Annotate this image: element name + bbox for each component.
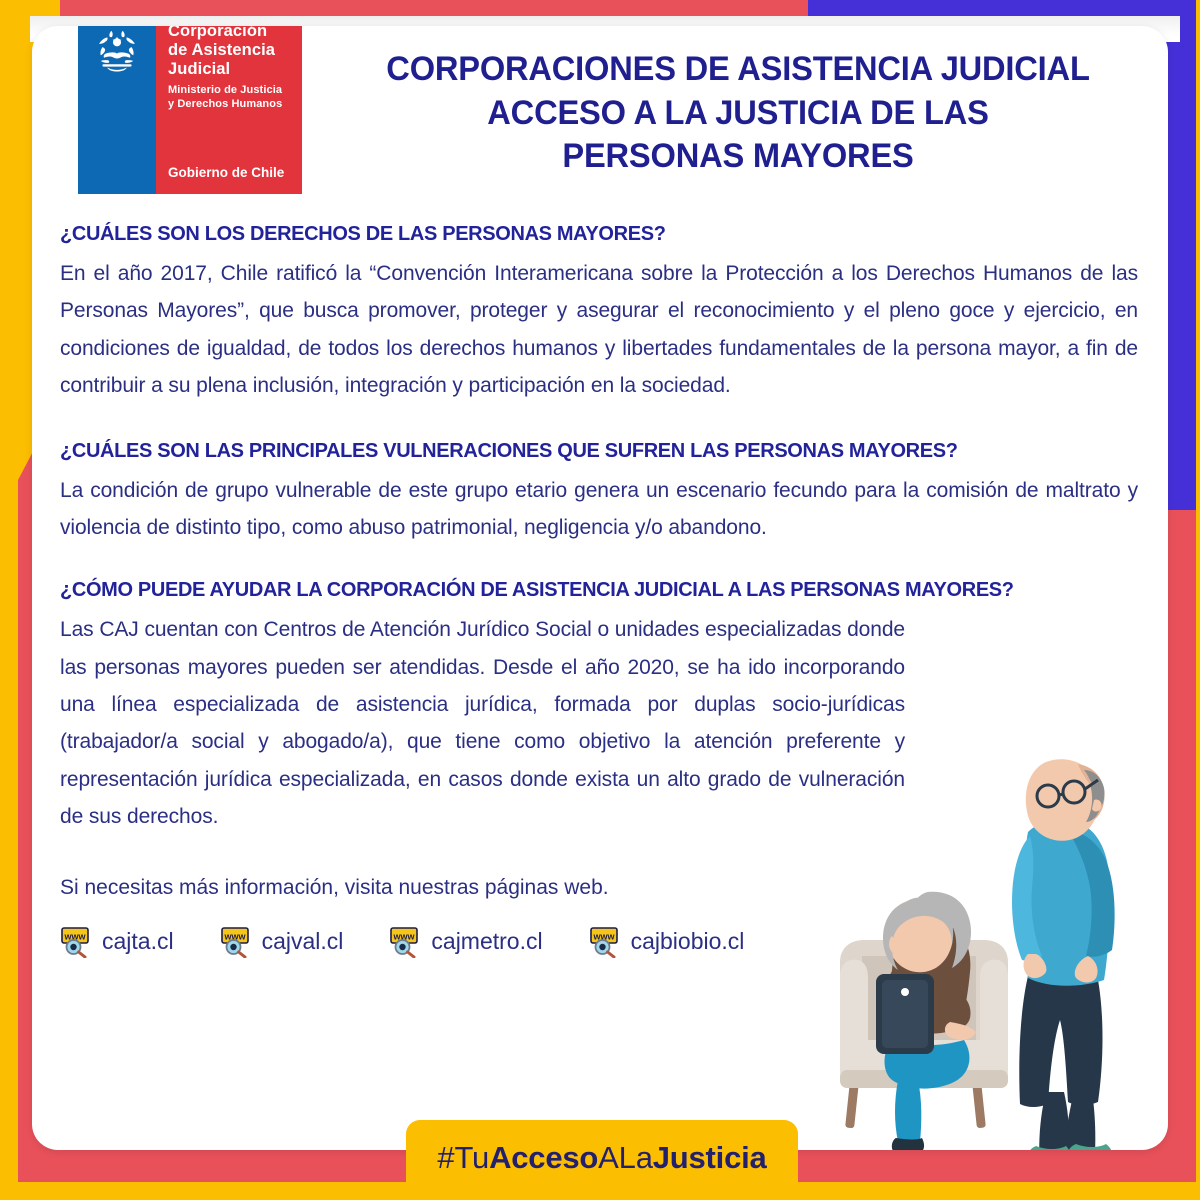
infographic-poster: Corporación de Asistencia Judicial Minis… xyxy=(0,0,1200,1200)
section-paragraph: En el año 2017, Chile ratificó la “Conve… xyxy=(60,255,1138,405)
www-search-icon: www xyxy=(60,926,94,958)
logo-ministry-line2: y Derechos Humanos xyxy=(168,98,296,111)
www-search-icon: www xyxy=(389,926,423,958)
link-cajmetro[interactable]: www cajmetro.cl xyxy=(389,926,542,958)
logo-title-line3: Judicial xyxy=(168,60,296,79)
page-title-line3: PERSONAS MAYORES xyxy=(335,135,1141,179)
hashtag-text: #TuAccesoALaJusticia xyxy=(437,1140,766,1176)
section-paragraph: La condición de grupo vulnerable de este… xyxy=(60,472,1138,547)
page-title-line1: CORPORACIONES DE ASISTENCIA JUDICIAL xyxy=(335,48,1141,92)
section-heading: ¿CÓMO PUEDE AYUDAR LA CORPORACIÓN DE ASI… xyxy=(60,578,1111,602)
logo-ministry-line1: Ministerio de Justicia xyxy=(168,84,296,97)
link-cajbiobio[interactable]: www cajbiobio.cl xyxy=(589,926,745,958)
www-search-icon: www xyxy=(589,926,623,958)
section-heading: ¿CUÁLES SON LAS PRINCIPALES VULNERACIONE… xyxy=(60,439,1111,463)
hashtag-part4: Justicia xyxy=(653,1140,767,1175)
armchair xyxy=(840,940,1008,1128)
logo-blue-panel xyxy=(78,26,156,194)
link-cajval[interactable]: www cajval.cl xyxy=(220,926,344,958)
government-logo: Corporación de Asistencia Judicial Minis… xyxy=(78,26,302,194)
link-cajta[interactable]: www cajta.cl xyxy=(60,926,174,958)
hashtag-part2: Acceso xyxy=(489,1140,598,1175)
section-rights: ¿CUÁLES SON LOS DERECHOS DE LAS PERSONAS… xyxy=(60,222,1138,405)
more-info-note: Si necesitas más información, visita nue… xyxy=(60,876,1138,900)
link-label: cajta.cl xyxy=(102,928,174,955)
header: Corporación de Asistencia Judicial Minis… xyxy=(32,26,1168,222)
link-label: cajbiobio.cl xyxy=(631,928,745,955)
logo-red-panel: Corporación de Asistencia Judicial Minis… xyxy=(156,26,302,194)
page-title: CORPORACIONES DE ASISTENCIA JUDICIAL ACC… xyxy=(335,48,1141,179)
logo-title: Corporación de Asistencia Judicial xyxy=(168,26,296,78)
logo-title-line2: de Asistencia xyxy=(168,41,296,60)
page-title-line2: ACCESO A LA JUSTICIA DE LAS xyxy=(335,92,1141,136)
section-how-caj-helps: ¿CÓMO PUEDE AYUDAR LA CORPORACIÓN DE ASI… xyxy=(60,578,1138,835)
link-label: cajmetro.cl xyxy=(431,928,542,955)
logo-ministry: Ministerio de Justicia y Derechos Humano… xyxy=(168,84,296,110)
website-links: www cajta.cl www cajval.c xyxy=(60,926,1138,958)
section-paragraph: Las CAJ cuentan con Centros de Atención … xyxy=(60,611,905,835)
content-card: Corporación de Asistencia Judicial Minis… xyxy=(32,26,1168,1150)
hashtag-banner: #TuAccesoALaJusticia xyxy=(406,1120,798,1196)
chile-coat-of-arms-icon xyxy=(91,26,143,78)
section-vulnerations: ¿CUÁLES SON LAS PRINCIPALES VULNERACIONE… xyxy=(60,439,1138,547)
body: ¿CUÁLES SON LOS DERECHOS DE LAS PERSONAS… xyxy=(32,222,1168,958)
hashtag-part1: #Tu xyxy=(437,1140,489,1175)
logo-title-line1: Corporación xyxy=(168,26,296,41)
section-heading: ¿CUÁLES SON LOS DERECHOS DE LAS PERSONAS… xyxy=(60,222,1111,246)
logo-government: Gobierno de Chile xyxy=(168,165,284,180)
link-label: cajval.cl xyxy=(262,928,344,955)
hashtag-part3: ALa xyxy=(598,1140,653,1175)
www-search-icon: www xyxy=(220,926,254,958)
